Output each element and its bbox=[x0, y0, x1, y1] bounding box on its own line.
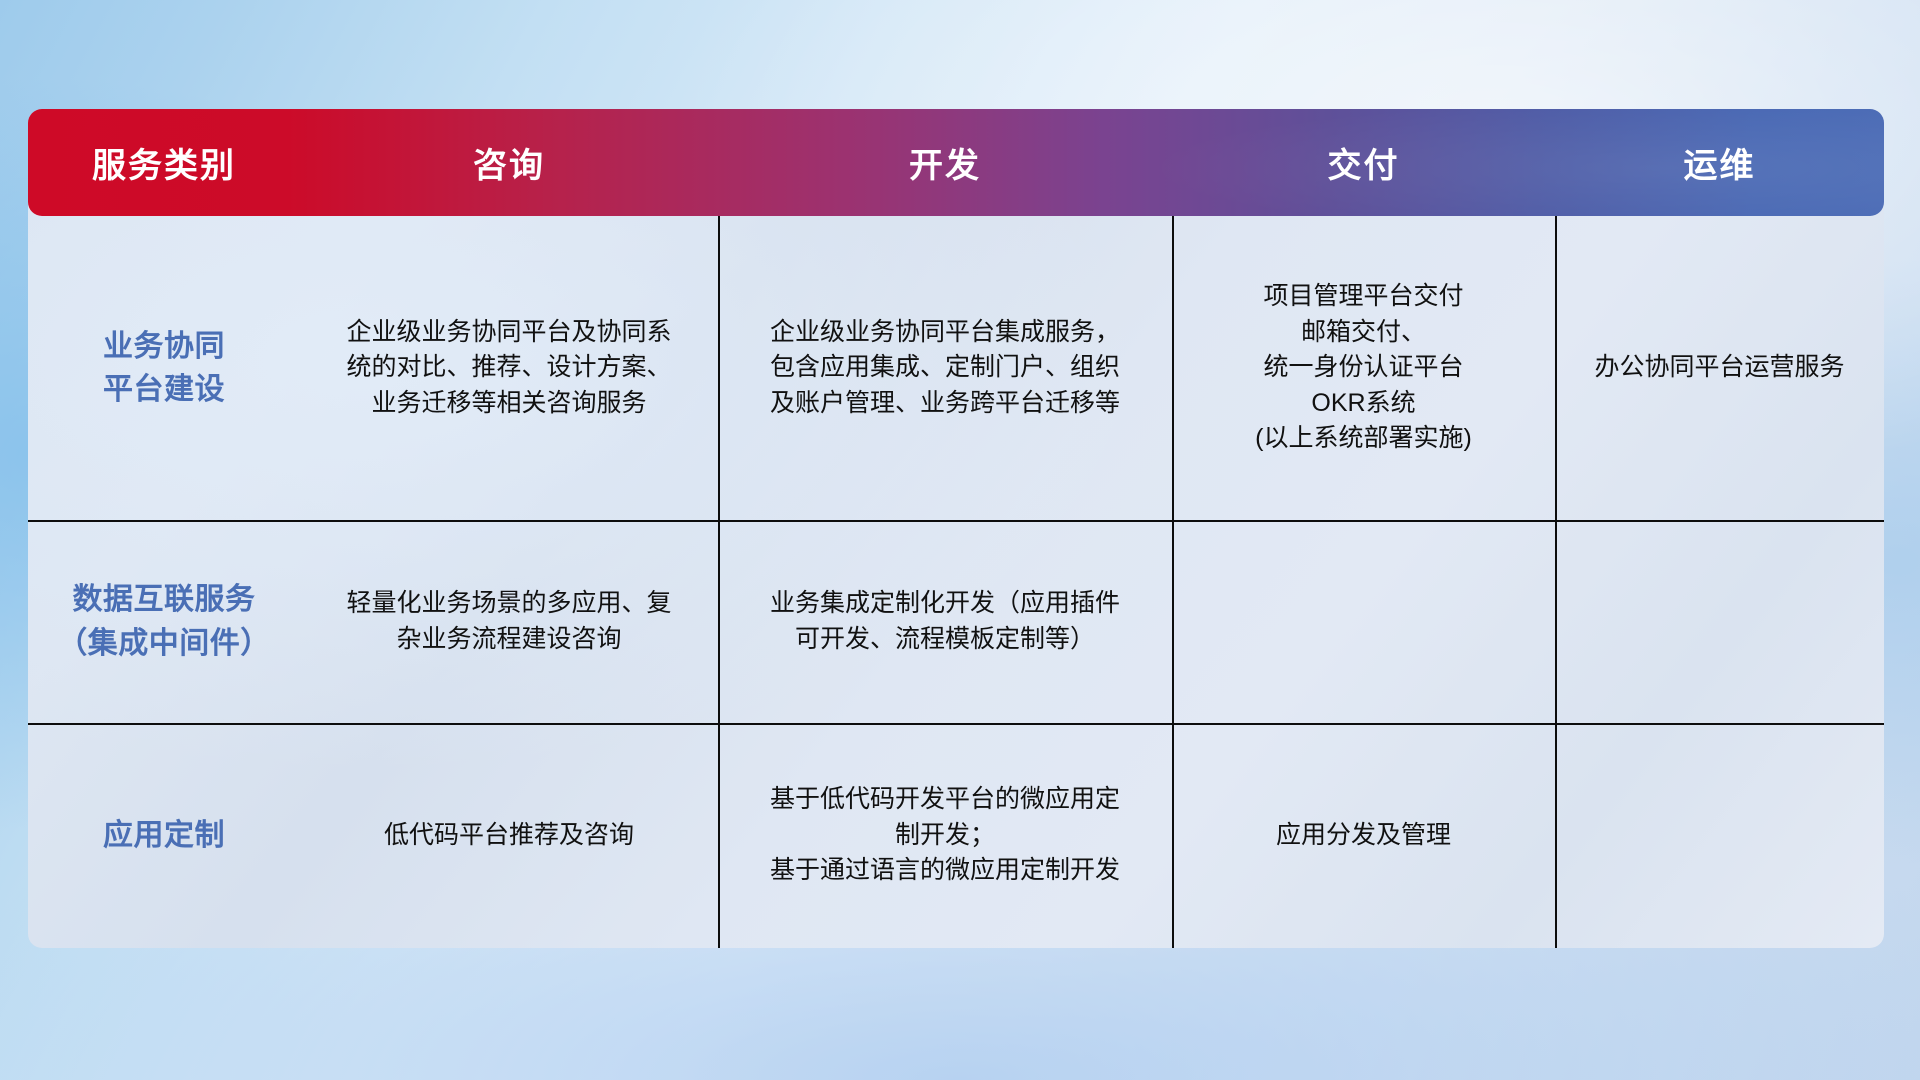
row-label-business-collaboration: 业务协同 平台建设 bbox=[28, 216, 300, 520]
column-divider-2 bbox=[1172, 216, 1174, 948]
cell-application-customization-operations bbox=[1555, 723, 1884, 948]
column-divider-3 bbox=[1555, 216, 1557, 948]
column-header-consulting: 咨询 bbox=[300, 138, 718, 187]
cell-data-interconnection-operations bbox=[1555, 520, 1884, 723]
cell-data-interconnection-delivery bbox=[1172, 520, 1555, 723]
row-label-data-interconnection: 数据互联服务 （集成中间件） bbox=[28, 520, 300, 723]
table-header-row: 服务类别 咨询 开发 交付 运维 bbox=[28, 109, 1884, 216]
cell-business-collaboration-delivery: 项目管理平台交付 邮箱交付、 统一身份认证平台 OKR系统 (以上系统部署实施) bbox=[1172, 216, 1555, 520]
column-divider-1 bbox=[718, 216, 720, 948]
column-header-category: 服务类别 bbox=[28, 138, 300, 187]
row-divider-2 bbox=[28, 723, 1884, 725]
table-body: 业务协同 平台建设 企业级业务协同平台及协同系 统的对比、推荐、设计方案、 业务… bbox=[28, 216, 1884, 948]
cell-data-interconnection-development: 业务集成定制化开发（应用插件 可开发、流程模板定制等） bbox=[718, 520, 1172, 723]
table-row: 业务协同 平台建设 企业级业务协同平台及协同系 统的对比、推荐、设计方案、 业务… bbox=[28, 216, 1884, 520]
column-header-operations: 运维 bbox=[1555, 138, 1884, 187]
column-header-delivery: 交付 bbox=[1172, 138, 1555, 187]
table-row: 数据互联服务 （集成中间件） 轻量化业务场景的多应用、复 杂业务流程建设咨询 业… bbox=[28, 520, 1884, 723]
cell-business-collaboration-operations: 办公协同平台运营服务 bbox=[1555, 216, 1884, 520]
table-row: 应用定制 低代码平台推荐及咨询 基于低代码开发平台的微应用定 制开发； 基于通过… bbox=[28, 723, 1884, 948]
cell-business-collaboration-development: 企业级业务协同平台集成服务， 包含应用集成、定制门户、组织 及账户管理、业务跨平… bbox=[718, 216, 1172, 520]
cell-application-customization-consulting: 低代码平台推荐及咨询 bbox=[300, 723, 718, 948]
column-header-development: 开发 bbox=[718, 138, 1172, 187]
cell-data-interconnection-consulting: 轻量化业务场景的多应用、复 杂业务流程建设咨询 bbox=[300, 520, 718, 723]
row-label-application-customization: 应用定制 bbox=[28, 723, 300, 948]
service-matrix-table: 服务类别 咨询 开发 交付 运维 业务协同 平台建设 企业级业务协同平台及协同系… bbox=[28, 109, 1884, 948]
row-divider-1 bbox=[28, 520, 1884, 522]
cell-business-collaboration-consulting: 企业级业务协同平台及协同系 统的对比、推荐、设计方案、 业务迁移等相关咨询服务 bbox=[300, 216, 718, 520]
cell-application-customization-development: 基于低代码开发平台的微应用定 制开发； 基于通过语言的微应用定制开发 bbox=[718, 723, 1172, 948]
cell-application-customization-delivery: 应用分发及管理 bbox=[1172, 723, 1555, 948]
